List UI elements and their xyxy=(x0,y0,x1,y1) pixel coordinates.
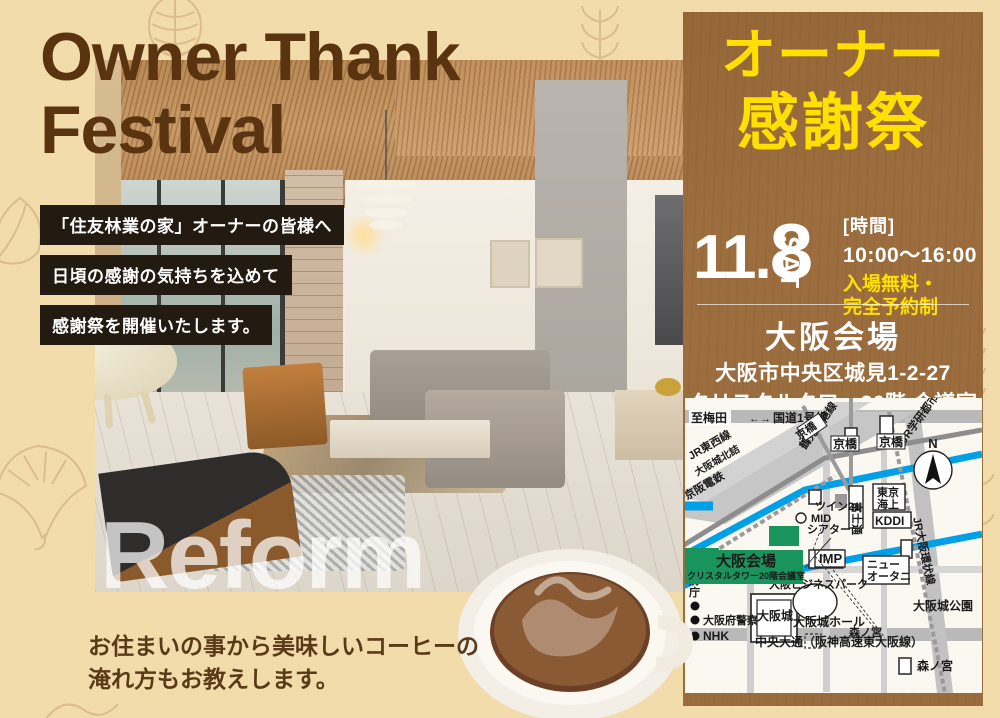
flyer-canvas: Reform Owner Thank Festival 「住友林業の家」オーナー… xyxy=(0,0,1000,718)
japanese-title-line-1: オーナー xyxy=(683,28,983,83)
japanese-title-line-2: 感謝祭 xyxy=(683,93,983,155)
admission-note-line-1: 入場無料・ xyxy=(843,273,977,296)
map-label-osakajo: 大阪城 xyxy=(757,608,793,623)
svg-text:←→: ←→ xyxy=(749,413,771,425)
map-label-imp: IMP xyxy=(819,551,842,566)
event-day-of-week: SAT xyxy=(774,236,805,289)
map-label-mid-2: シアター xyxy=(807,523,851,536)
event-month: 11. xyxy=(693,223,770,292)
map-label-new-otani-2: オータニ xyxy=(867,570,911,583)
map-venue-subtitle: クリスタルタワー20階会議室 xyxy=(687,570,805,581)
page-title: Owner Thank Festival xyxy=(40,24,460,163)
message-line-3: 感謝祭を開催いたします。 xyxy=(40,305,272,345)
map-label-morinomiya-2: 森ノ宮 xyxy=(917,658,953,673)
map-label-fujitsu: 富士通 xyxy=(850,502,864,535)
map-label-to-umeda: 至梅田 xyxy=(691,410,727,425)
venue-name: 大阪会場 xyxy=(683,312,983,357)
japanese-title: オーナー 感謝祭 xyxy=(683,28,983,155)
message-line-1: 「住友林業の家」オーナーの皆様へ xyxy=(40,205,344,245)
map-label-kyobashi-2: 京橋 xyxy=(833,436,858,451)
map-label-nhk: NHK xyxy=(703,629,729,643)
map-label-new-otani-1: ニュー xyxy=(867,559,900,571)
map-compass-label: N xyxy=(928,436,937,451)
venue-address-line-1: 大阪市中央区城見1-2-27 xyxy=(683,360,983,387)
panel-divider xyxy=(697,304,969,305)
map-label-chuo-odori: 中央大通（阪神高速東大阪線） xyxy=(755,634,923,649)
coffee-cup-photo xyxy=(452,530,702,718)
title-line-1: Owner Thank xyxy=(40,24,460,91)
map-label-osakajo-koen: 大阪城公園 xyxy=(913,598,973,613)
caption-line-2: 淹れ方もお教えします。 xyxy=(88,663,479,696)
map-label-kddi: KDDI xyxy=(875,514,904,528)
event-date-row: 11.8 SAT [時間] 10:00〜16:00 入場無料・ 完全予約制 xyxy=(683,208,983,300)
time-label: [時間] xyxy=(843,212,977,238)
map-label-tokyo-kaijo-1: 東京 xyxy=(877,485,899,499)
ginkgo-leaf-decoration xyxy=(0,430,100,550)
map-label-tokyo-kaijo-2: 海上 xyxy=(877,497,899,511)
map-label-kyobashi-3: 京橋 xyxy=(879,434,904,449)
map-label-police: 大阪府警察 xyxy=(703,613,759,627)
title-line-2: Festival xyxy=(40,97,460,164)
message-line-2: 日頃の感謝の気持ちを込めて xyxy=(40,255,292,295)
map-venue-title: 大阪会場 xyxy=(716,552,776,570)
message-block: 「住友林業の家」オーナーの皆様へ 日頃の感謝の気持ちを込めて 感謝祭を開催いたし… xyxy=(40,205,344,355)
time-value: 10:00〜16:00 xyxy=(843,239,977,269)
access-map[interactable]: N 至梅田 ←→ 国道1号線 JR東西線 大阪城北詰 京阪電鉄 鶴見緑地線 JR… xyxy=(685,398,982,693)
bottom-caption: お住まいの事から美味しいコーヒーの 淹れ方もお教えします。 xyxy=(88,630,479,695)
caption-line-1: お住まいの事から美味しいコーヒーの xyxy=(88,630,479,663)
